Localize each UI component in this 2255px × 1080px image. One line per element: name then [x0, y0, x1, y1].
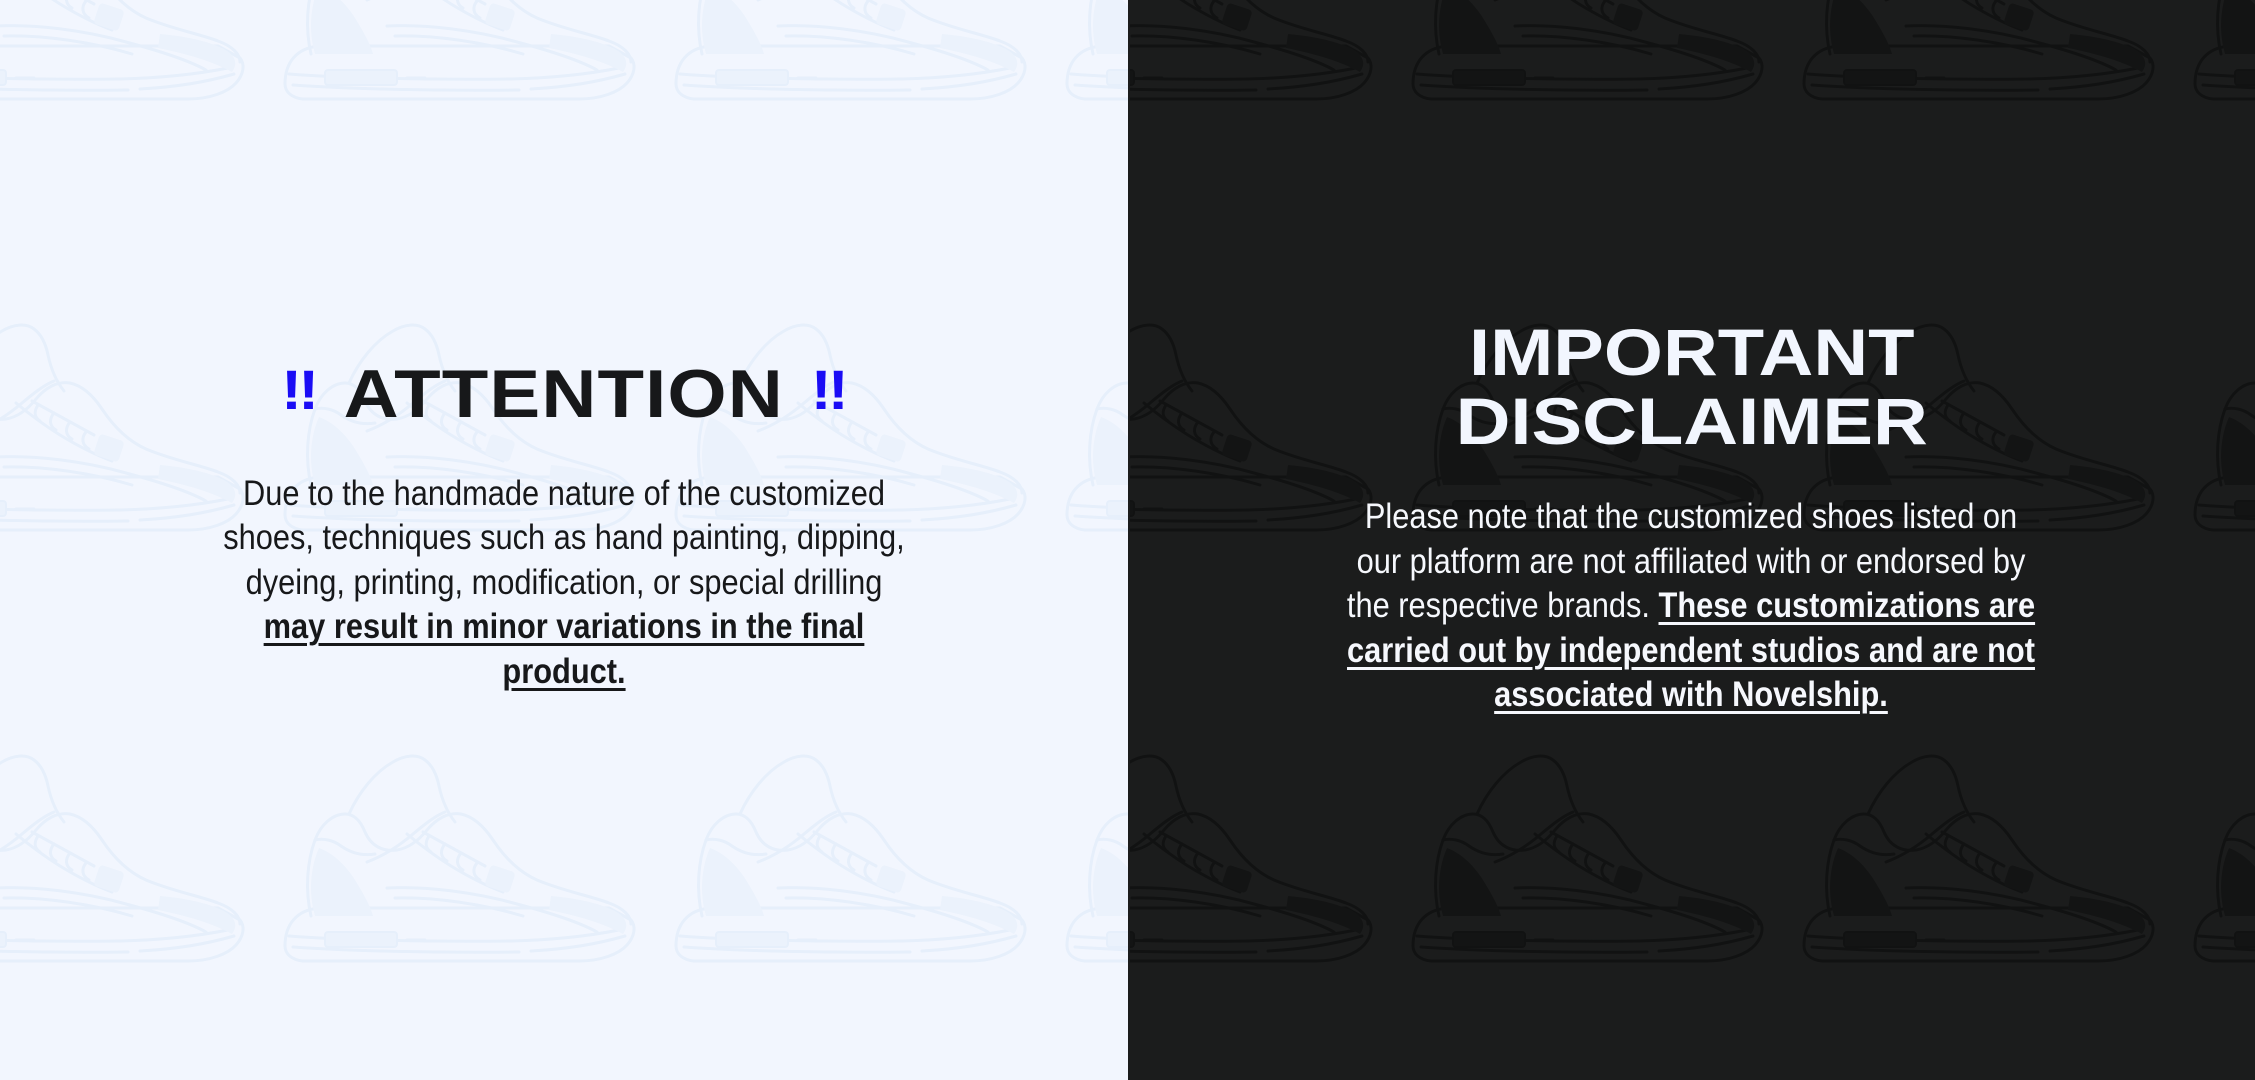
attention-headline-word: ATTENTION [344, 360, 784, 428]
attention-body-emphasis: may result in minor variations in the fi… [263, 607, 864, 690]
attention-body-text: Due to the handmade nature of the custom… [216, 472, 911, 694]
disclaimer-panel: IMPORTANT DISCLAIMER Please note that th… [1128, 0, 2255, 1080]
disclaimer-headline-line1: IMPORTANT [1128, 318, 2255, 387]
attention-headline: ‼ ATTENTION ‼ [0, 360, 1128, 428]
disclaimer-headline: IMPORTANT DISCLAIMER [1128, 318, 2255, 455]
attention-body-normal: Due to the handmade nature of the custom… [223, 474, 905, 602]
panel-divider [1128, 0, 1130, 1080]
double-exclamation-left-icon: ‼ [281, 362, 317, 418]
attention-content: ‼ ATTENTION ‼ Due to the handmade nature… [0, 0, 1128, 694]
attention-panel: ‼ ATTENTION ‼ Due to the handmade nature… [0, 0, 1128, 1080]
disclaimer-headline-line2: DISCLAIMER [1128, 387, 2255, 456]
disclaimer-content: IMPORTANT DISCLAIMER Please note that th… [1128, 0, 2255, 717]
double-exclamation-right-icon: ‼ [811, 362, 847, 418]
disclaimer-body-text: Please note that the customized shoes li… [1339, 495, 2043, 717]
customization-notice-banner: ‼ ATTENTION ‼ Due to the handmade nature… [0, 0, 2255, 1080]
